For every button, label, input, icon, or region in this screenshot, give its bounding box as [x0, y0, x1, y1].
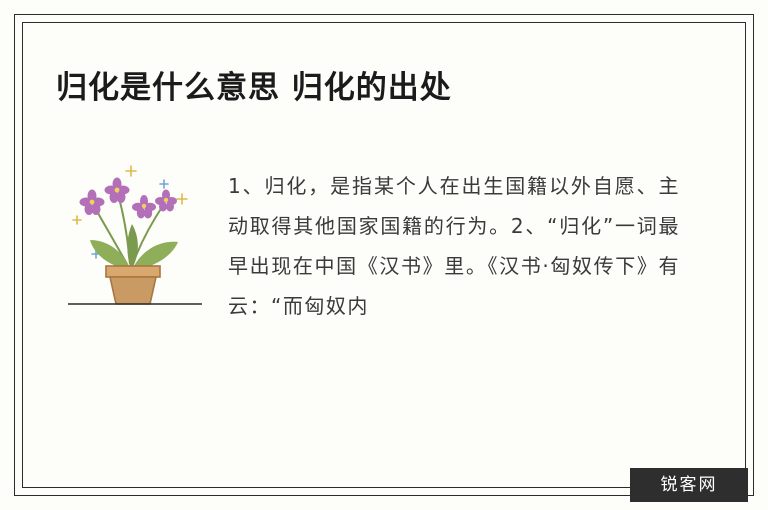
potted-orchid-illustration — [60, 158, 210, 308]
body-paragraph: 1、归化，是指某个人在出生国籍以外自愿、主动取得其他国家国籍的行为。2、“归化”… — [228, 166, 680, 326]
watermark-badge: 锐客网 — [630, 468, 748, 502]
page-title: 归化是什么意思 归化的出处 — [56, 62, 452, 107]
document-page: 归化是什么意思 归化的出处 — [0, 0, 768, 510]
